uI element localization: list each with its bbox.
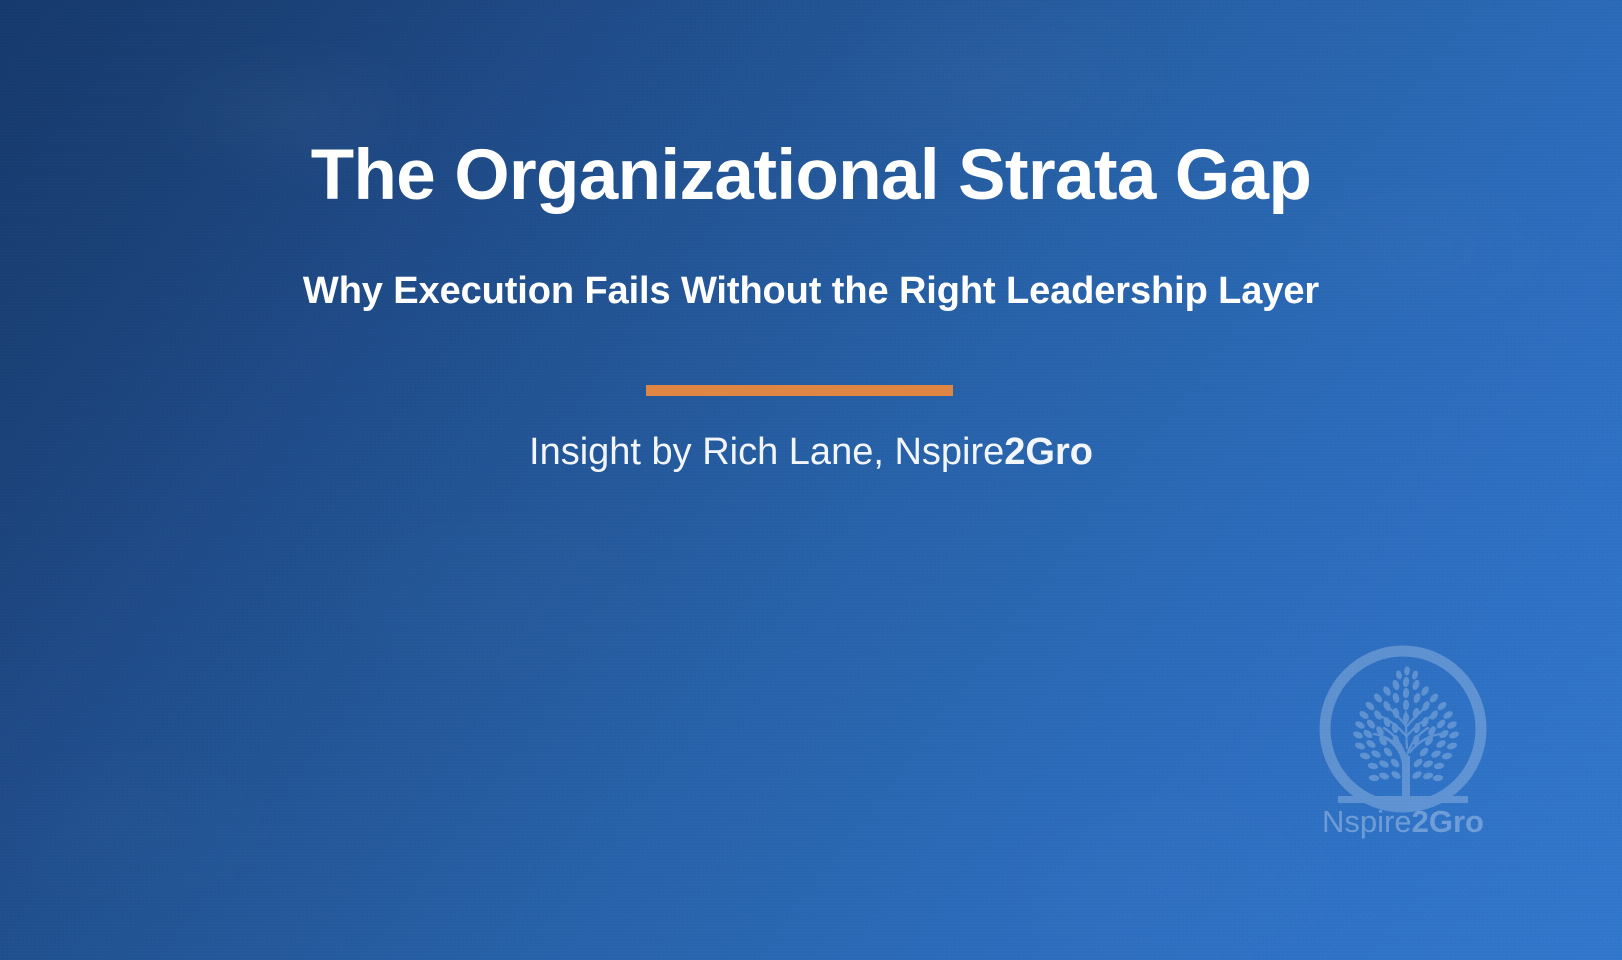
logo-wordmark-bold: 2Gro — [1412, 804, 1484, 839]
slide-title: The Organizational Strata Gap — [0, 140, 1622, 211]
logo-wordmark: Nspire2Gro — [1300, 806, 1506, 837]
slide-byline: Insight by Rich Lane, Nspire2Gro — [0, 433, 1622, 471]
slide-subtitle: Why Execution Fails Without the Right Le… — [0, 272, 1622, 310]
byline-brand-bold: 2Gro — [1004, 431, 1093, 473]
title-slide: The Organizational Strata Gap Why Execut… — [0, 0, 1622, 960]
accent-divider-rule — [646, 385, 953, 396]
byline-prefix: Insight by Rich Lane, Nspire — [529, 431, 1004, 473]
logo-wordmark-prefix: Nspire — [1322, 804, 1412, 839]
logo-tree-trunk — [1380, 737, 1410, 804]
